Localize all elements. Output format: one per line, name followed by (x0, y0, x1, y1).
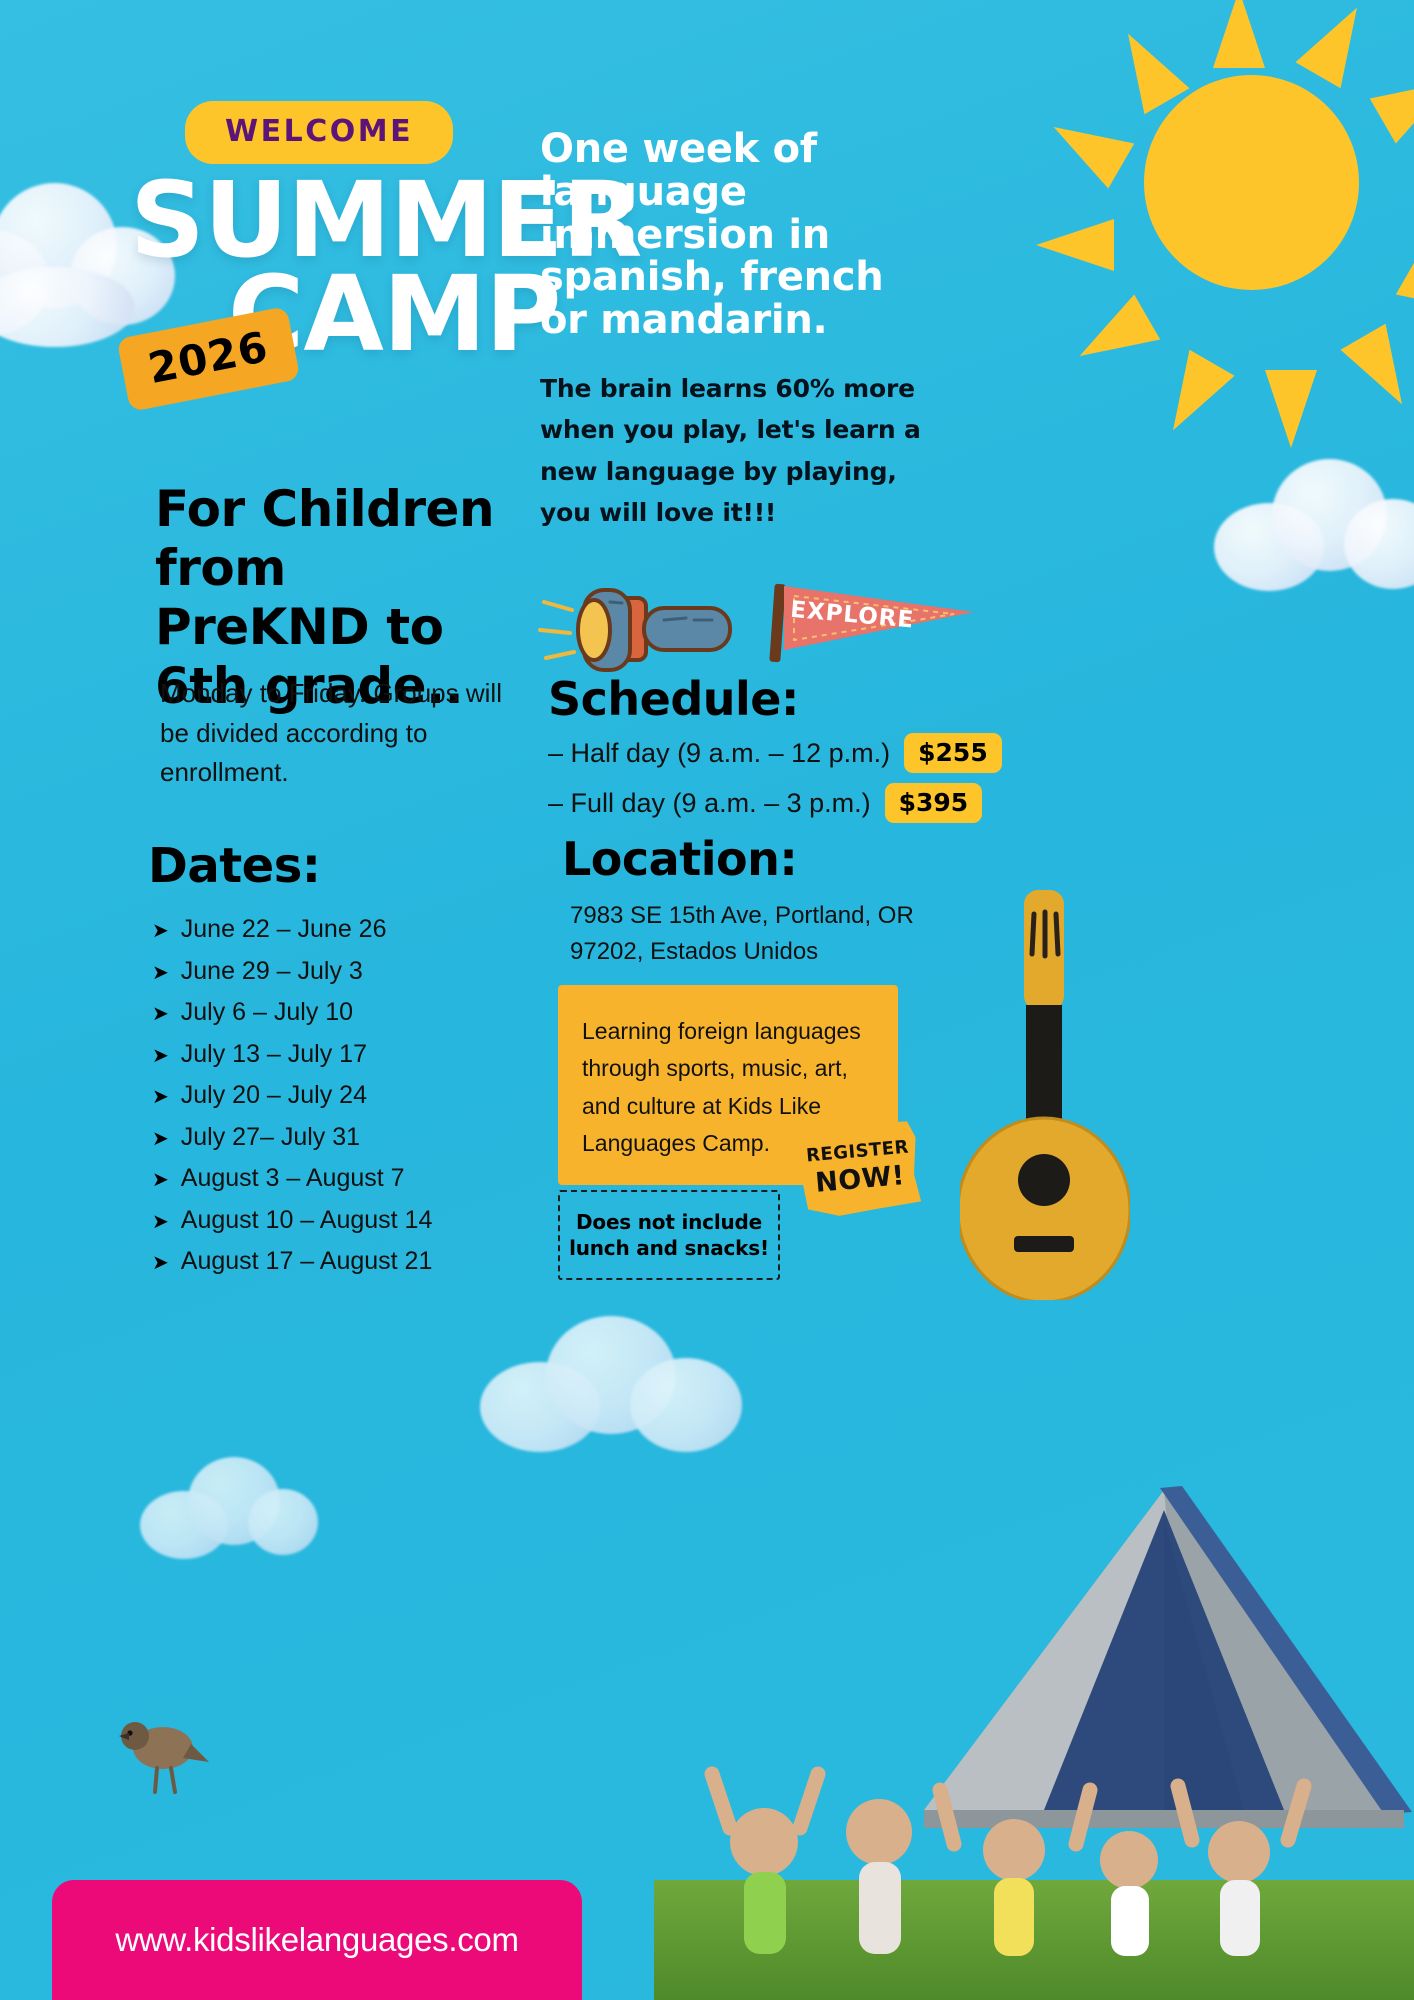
date-label: August 17 – August 21 (181, 1247, 433, 1276)
arrow-bullet-icon: ➤ (152, 1212, 169, 1232)
register-now-button[interactable]: REGISTER NOW! (796, 1117, 922, 1219)
date-row: ➤July 13 – July 17 (152, 1040, 532, 1069)
price-badge: $395 (885, 783, 983, 823)
location-address: 7983 SE 15th Ave, Portland, OR 97202, Es… (570, 898, 930, 970)
dates-heading: Dates: (148, 838, 321, 894)
sun-icon (1034, 0, 1414, 410)
date-label: August 3 – August 7 (181, 1164, 405, 1193)
location-heading: Location: (562, 832, 797, 886)
date-label: July 20 – July 24 (181, 1081, 367, 1110)
poster-canvas: WELCOME SUMMER CAMP 2026 One week of lan… (0, 0, 1414, 2000)
flashlight-icon (536, 580, 736, 680)
explore-pennant: EXPLORE (762, 586, 972, 664)
arrow-bullet-icon: ➤ (152, 1253, 169, 1273)
date-row: ➤August 3 – August 7 (152, 1164, 532, 1193)
date-row: ➤August 10 – August 14 (152, 1206, 532, 1235)
cloud-icon (140, 1455, 320, 1565)
date-label: July 27– July 31 (181, 1123, 360, 1152)
date-label: June 29 – July 3 (181, 957, 363, 986)
year-badge: 2026 (117, 306, 301, 412)
date-row: ➤June 22 – June 26 (152, 915, 532, 944)
subheadline-text: The brain learns 60% more when you play,… (540, 368, 940, 533)
date-label: August 10 – August 14 (181, 1206, 433, 1235)
date-row: ➤June 29 – July 3 (152, 957, 532, 986)
guitar-icon (960, 880, 1130, 1300)
audience-note: Monday to Friday. Groups will be divided… (160, 674, 510, 793)
date-label: June 22 – June 26 (181, 915, 387, 944)
arrow-bullet-icon: ➤ (152, 1129, 169, 1149)
date-row: ➤August 17 – August 21 (152, 1247, 532, 1276)
arrow-bullet-icon: ➤ (152, 1004, 169, 1024)
schedule-row-half-day: – Half day (9 a.m. – 12 p.m.) $255 (548, 733, 1002, 773)
welcome-badge: WELCOME (185, 101, 453, 164)
date-row: ➤July 6 – July 10 (152, 998, 532, 1027)
dates-list: ➤June 22 – June 26➤June 29 – July 3➤July… (152, 915, 532, 1289)
schedule-label: – Half day (9 a.m. – 12 p.m.) (548, 738, 890, 769)
date-label: July 6 – July 10 (181, 998, 353, 1027)
disclaimer-box: Does not include lunch and snacks! (558, 1190, 780, 1280)
arrow-bullet-icon: ➤ (152, 921, 169, 941)
website-url: www.kidslikelanguages.com (115, 1921, 518, 1959)
date-label: July 13 – July 17 (181, 1040, 367, 1069)
headline-text: One week of language immersion in spanis… (540, 128, 940, 342)
arrow-bullet-icon: ➤ (152, 1087, 169, 1107)
price-badge: $255 (904, 733, 1002, 773)
schedule-label: – Full day (9 a.m. – 3 p.m.) (548, 788, 871, 819)
schedule-row-full-day: – Full day (9 a.m. – 3 p.m.) $395 (548, 783, 982, 823)
date-row: ➤July 27– July 31 (152, 1123, 532, 1152)
cloud-icon (1214, 455, 1414, 595)
schedule-heading: Schedule: (548, 672, 799, 726)
bird-icon (105, 1700, 215, 1810)
arrow-bullet-icon: ➤ (152, 963, 169, 983)
arrow-bullet-icon: ➤ (152, 1046, 169, 1066)
date-row: ➤July 20 – July 24 (152, 1081, 532, 1110)
arrow-bullet-icon: ➤ (152, 1170, 169, 1190)
tent-photo (654, 1300, 1414, 2000)
website-footer[interactable]: www.kidslikelanguages.com (52, 1880, 582, 2000)
register-line2: NOW! (814, 1162, 906, 1197)
